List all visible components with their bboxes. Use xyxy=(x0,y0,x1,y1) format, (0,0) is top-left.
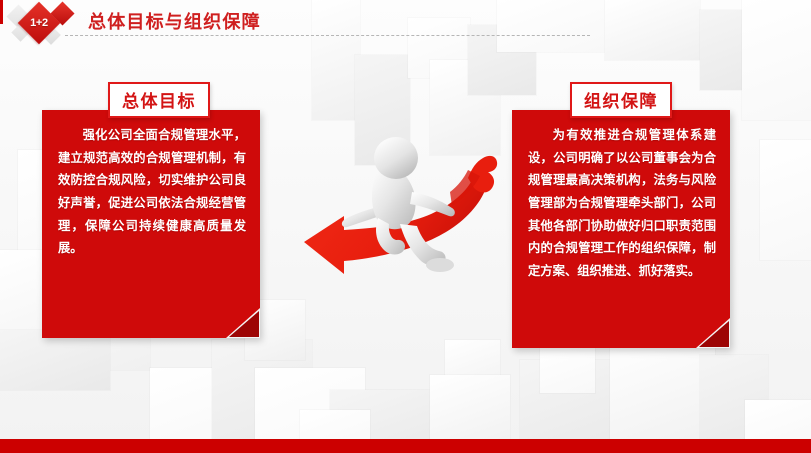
logo-number-label: 1+2 xyxy=(24,8,54,38)
top-left-red-strip xyxy=(0,0,3,24)
page-title: 总体目标与组织保障 xyxy=(88,8,261,34)
bottom-red-bar xyxy=(0,439,811,453)
person-surfing-red-arrow-illustration xyxy=(300,120,515,295)
header-dashed-divider xyxy=(65,35,590,36)
card-title-overall-goal: 总体目标 xyxy=(108,82,210,118)
bg-block xyxy=(0,330,110,390)
page-fold-corner-icon xyxy=(696,318,730,348)
slide-header: 1+2 总体目标与组织保障 xyxy=(0,0,811,46)
card-title-organizational-guarantee: 组织保障 xyxy=(570,82,672,118)
page-fold-corner-icon xyxy=(226,308,260,338)
card-body-text: 为有效推进合规管理体系建设，公司明确了以公司董事会为合规管理最高决策机构，法务与… xyxy=(512,110,730,348)
bg-block xyxy=(540,348,595,393)
bg-block xyxy=(760,140,811,260)
card-body-text: 强化公司全面合规管理水平，建立规范高效的合规管理机制，有效防控合规风险，切实维护… xyxy=(42,110,260,338)
card-overall-goal[interactable]: 强化公司全面合规管理水平，建立规范高效的合规管理机制，有效防控合规风险，切实维护… xyxy=(42,110,260,338)
card-organizational-guarantee[interactable]: 为有效推进合规管理体系建设，公司明确了以公司董事会为合规管理最高决策机构，法务与… xyxy=(512,110,730,348)
slide-canvas: 1+2 总体目标与组织保障 xyxy=(0,0,811,453)
diamond-logo-icon: 1+2 xyxy=(8,2,84,44)
